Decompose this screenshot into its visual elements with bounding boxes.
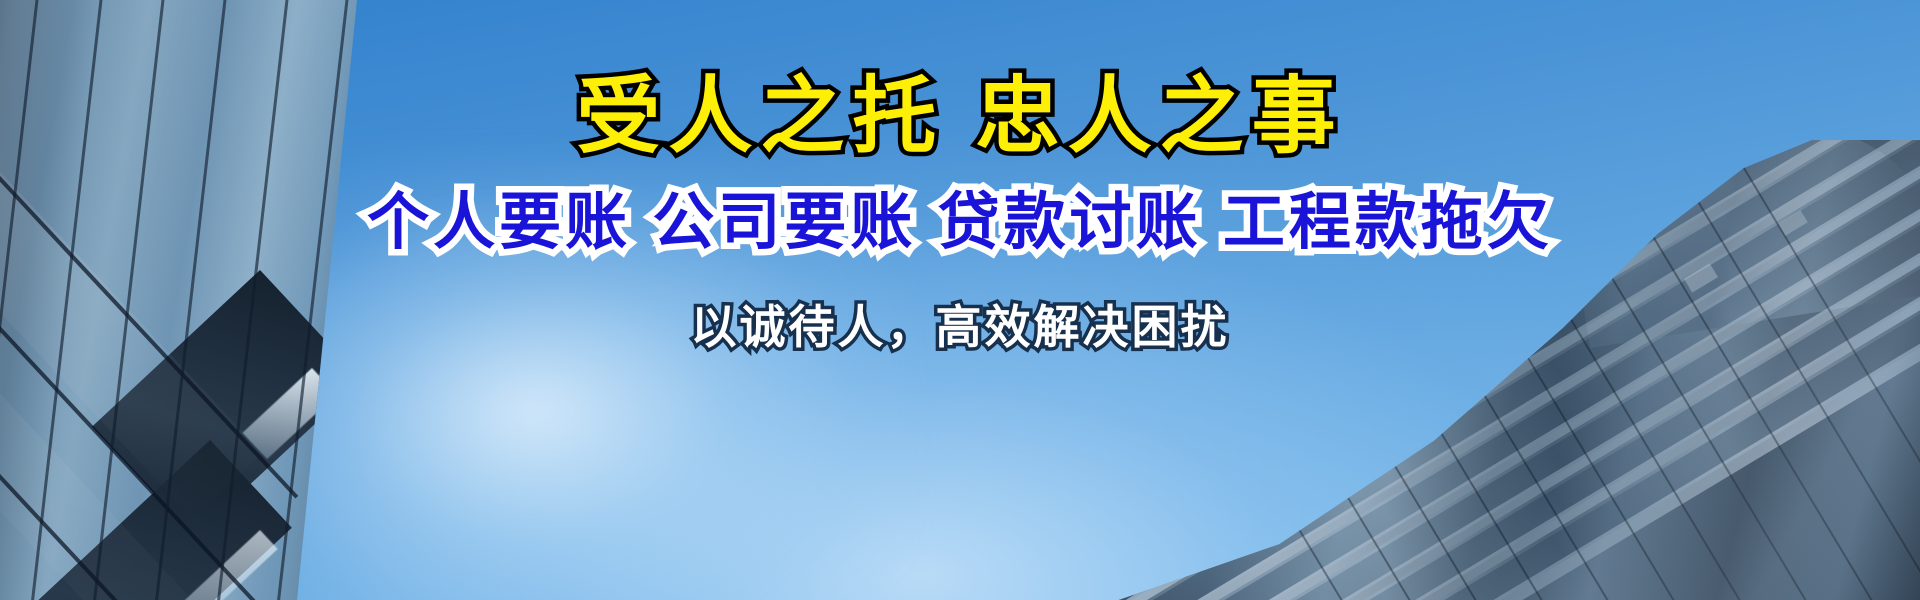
promo-banner: 受人之托 忠人之事 个人要账 公司要账 贷款讨账 工程款拖欠 以诚待人，高效解决… [0,0,1920,600]
